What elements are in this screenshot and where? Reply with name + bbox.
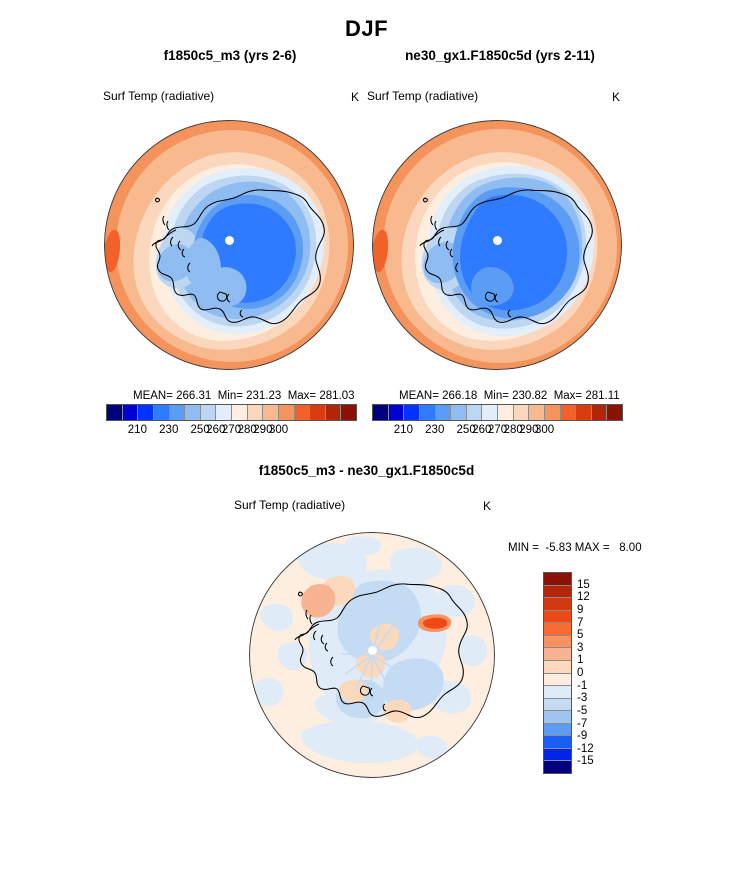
colorbar-diff-tick: -15 — [577, 755, 594, 767]
colorbar-band-7 — [216, 405, 232, 420]
colorbar-diff-band-5 — [544, 636, 571, 649]
colorbar-diff-tick: 0 — [577, 667, 583, 679]
colorbar-diff-ticks: 1512975310-1-3-5-7-9-12-15 — [577, 572, 617, 774]
colorbar-band-9 — [514, 405, 530, 420]
colorbar-diff-band-0 — [544, 573, 571, 586]
colorbar-diff-tick: 12 — [577, 591, 590, 603]
colorbar-band-1 — [389, 405, 405, 420]
page-title: DJF — [0, 16, 733, 42]
stats-diff: MIN = -5.83 MAX = 8.00 — [508, 542, 642, 554]
colorbar-band-8 — [232, 405, 248, 420]
colorbar-diff-tick: 7 — [577, 617, 583, 629]
colorbar-diff-band-14 — [544, 749, 571, 762]
colorbar-diff-tick: -9 — [577, 730, 587, 742]
colorbar-band-11 — [279, 405, 295, 420]
colorbar-band-4 — [436, 405, 452, 420]
colorbar-diff-tick: 3 — [577, 642, 583, 654]
diff-panel-title: f1850c5_m3 - ne30_gx1.F1850c5d — [0, 463, 733, 478]
colorbar-diff-tick: -5 — [577, 705, 587, 717]
map-right-svg — [372, 120, 622, 370]
colorbar-diff-band-1 — [544, 586, 571, 599]
colorbar-band-14 — [592, 405, 608, 420]
colorbar-band-3 — [420, 405, 436, 420]
colorbar-diff-band-4 — [544, 623, 571, 636]
colorbar-tick: 300 — [535, 424, 554, 436]
colorbar-right-ticks: 210230250260270280290300 — [372, 424, 623, 440]
colorbar-band-13 — [576, 405, 592, 420]
units-label-diff: K — [483, 499, 491, 513]
colorbar-diff-band-13 — [544, 736, 571, 749]
colorbar-tick: 210 — [394, 424, 413, 436]
colorbar-tick: 210 — [128, 424, 147, 436]
colorbar-band-10 — [529, 405, 545, 420]
colorbar-band-15 — [607, 405, 622, 420]
colorbar-band-2 — [404, 405, 420, 420]
colorbar-band-12 — [561, 405, 577, 420]
map-right-antarctic[interactable] — [372, 120, 622, 370]
colorbar-diff-band-9 — [544, 686, 571, 699]
variable-label-diff: Surf Temp (radiative) — [234, 498, 345, 512]
colorbar-tick: 230 — [159, 424, 178, 436]
colorbar-left-ticks: 210230250260270280290300 — [106, 424, 357, 440]
colorbar-band-1 — [123, 405, 139, 420]
colorbar-diff-tick: -3 — [577, 692, 587, 704]
colorbar-tick: 230 — [425, 424, 444, 436]
colorbar-band-3 — [154, 405, 170, 420]
colorbar-diff-band-12 — [544, 724, 571, 737]
colorbar-band-8 — [498, 405, 514, 420]
colorbar-diff-band-10 — [544, 699, 571, 712]
colorbar-band-13 — [310, 405, 326, 420]
colorbar-diff-band-8 — [544, 674, 571, 687]
colorbar-band-6 — [467, 405, 483, 420]
colorbar-left[interactable] — [106, 404, 357, 421]
colorbar-diff-band-3 — [544, 611, 571, 624]
colorbar-diff-tick: 15 — [577, 579, 590, 591]
colorbar-diff-band-6 — [544, 648, 571, 661]
colorbar-diff-tick: 1 — [577, 654, 583, 666]
colorbar-band-5 — [185, 405, 201, 420]
colorbar-diff-tick: -1 — [577, 680, 587, 692]
colorbar-band-9 — [248, 405, 264, 420]
map-left-svg — [104, 120, 354, 370]
colorbar-band-7 — [482, 405, 498, 420]
colorbar-diff[interactable] — [543, 572, 572, 774]
colorbar-diff-tick: -7 — [577, 718, 587, 730]
map-left-antarctic[interactable] — [104, 120, 354, 370]
colorbar-band-10 — [263, 405, 279, 420]
south-pole-marker-diff — [368, 646, 377, 655]
map-diff-antarctic[interactable] — [249, 532, 495, 778]
colorbar-band-0 — [107, 405, 123, 420]
colorbar-diff-tick: 9 — [577, 604, 583, 616]
units-label-right: K — [612, 90, 620, 104]
colorbar-band-5 — [451, 405, 467, 420]
colorbar-band-0 — [373, 405, 389, 420]
colorbar-band-11 — [545, 405, 561, 420]
colorbar-diff-band-2 — [544, 598, 571, 611]
colorbar-diff-band-11 — [544, 711, 571, 724]
colorbar-band-4 — [170, 405, 186, 420]
colorbar-diff-band-15 — [544, 761, 571, 773]
map-diff-svg — [249, 532, 495, 778]
units-label-left: K — [351, 90, 359, 104]
south-pole-marker-right — [493, 236, 502, 245]
variable-label-right: Surf Temp (radiative) — [367, 89, 478, 103]
colorbar-diff-band-7 — [544, 661, 571, 674]
south-pole-marker-left — [225, 236, 234, 245]
colorbar-band-12 — [295, 405, 311, 420]
colorbar-band-15 — [341, 405, 356, 420]
colorbar-diff-tick: -12 — [577, 743, 594, 755]
panel-title-right: ne30_gx1.F1850c5d (yrs 2-11) — [330, 48, 670, 63]
stats-right: MEAN= 266.18 Min= 230.82 Max= 281.11 — [399, 390, 620, 402]
colorbar-band-6 — [201, 405, 217, 420]
colorbar-diff-tick: 5 — [577, 629, 583, 641]
colorbar-right[interactable] — [372, 404, 623, 421]
stats-left: MEAN= 266.31 Min= 231.23 Max= 281.03 — [133, 390, 355, 402]
colorbar-tick: 300 — [269, 424, 288, 436]
colorbar-band-2 — [138, 405, 154, 420]
colorbar-band-14 — [326, 405, 342, 420]
variable-label-left: Surf Temp (radiative) — [103, 89, 214, 103]
